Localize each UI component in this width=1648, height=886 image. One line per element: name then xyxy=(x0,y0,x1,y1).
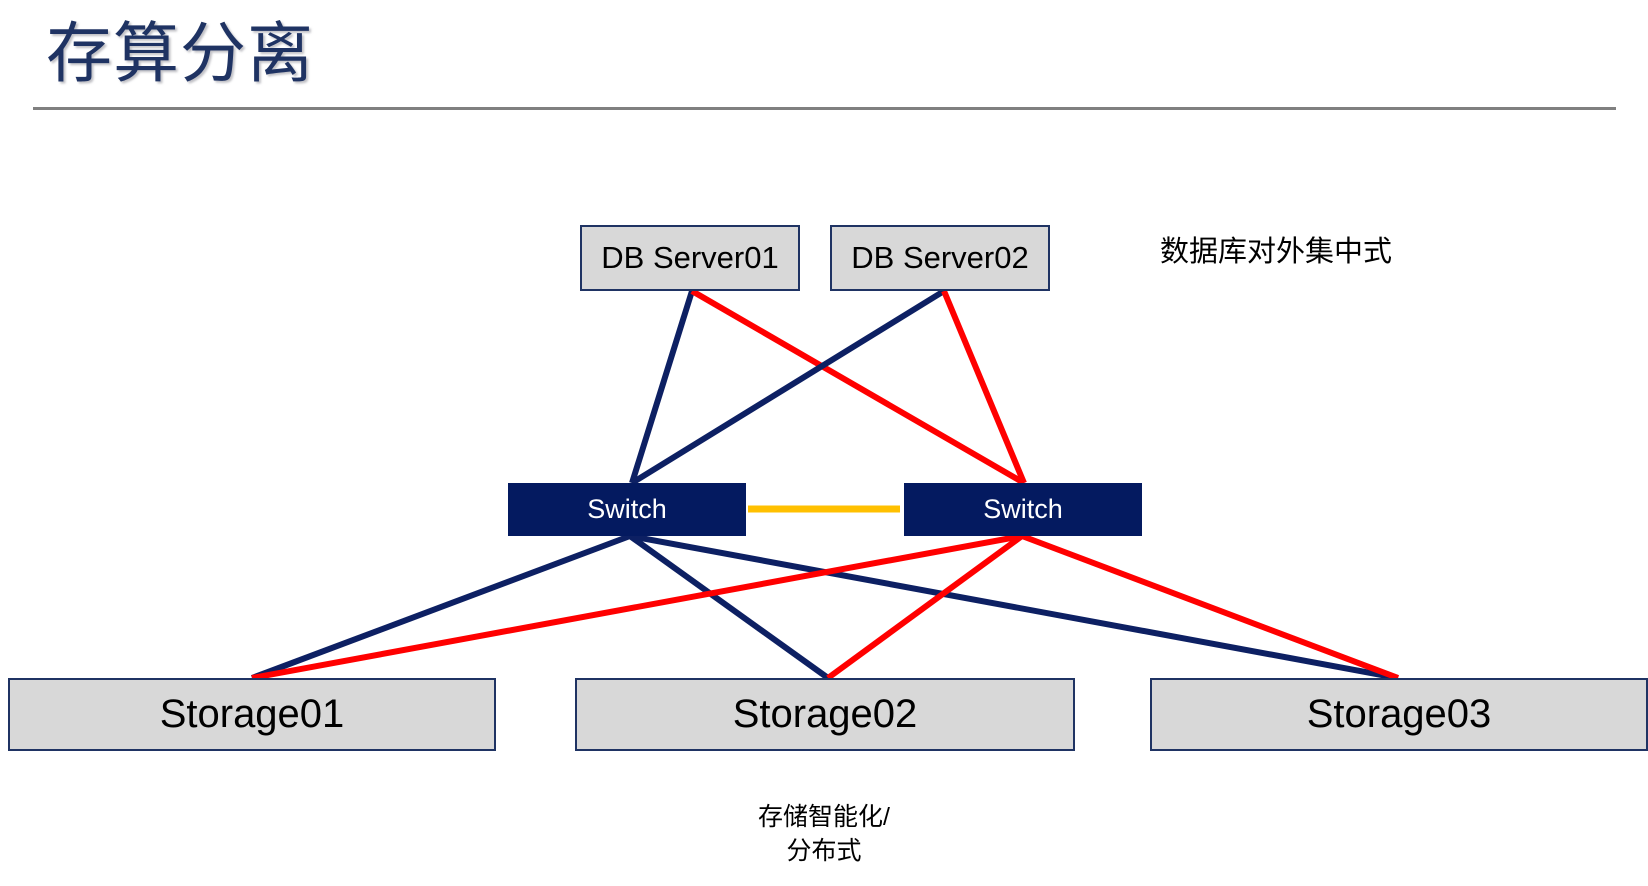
db-tier-annotation: 数据库对外集中式 xyxy=(1160,230,1392,274)
link-switch02-storage02 xyxy=(828,536,1022,678)
link-db02-switch01 xyxy=(632,291,944,483)
storage-02-node[interactable]: Storage02 xyxy=(575,678,1075,751)
switch-01-node[interactable]: Switch xyxy=(508,483,746,536)
storage-tier-annotation-line-2: 分布式 xyxy=(0,834,1648,868)
storage-tier-annotation-line-1: 存储智能化/ xyxy=(0,800,1648,834)
storage-tier-annotation: 存储智能化/ 分布式 xyxy=(0,800,1648,868)
db-server-01-label: DB Server01 xyxy=(601,240,778,276)
link-switch01-storage02 xyxy=(630,536,828,678)
link-switch02-storage03 xyxy=(1022,536,1398,678)
link-db02-switch02 xyxy=(944,291,1024,483)
link-db01-switch01 xyxy=(632,291,692,483)
link-db01-switch02 xyxy=(692,291,1024,483)
db-server-02-label: DB Server02 xyxy=(851,240,1028,276)
switch-02-node[interactable]: Switch xyxy=(904,483,1142,536)
storage-03-label: Storage03 xyxy=(1307,692,1492,737)
link-switch01-storage03 xyxy=(630,536,1398,678)
storage-02-label: Storage02 xyxy=(733,692,918,737)
link-switch02-storage01 xyxy=(252,536,1022,678)
connection-layer xyxy=(0,0,1648,886)
storage-03-node[interactable]: Storage03 xyxy=(1150,678,1648,751)
link-switch01-storage01 xyxy=(252,536,630,678)
switch-01-label: Switch xyxy=(587,494,667,525)
architecture-diagram: DB Server01 DB Server02 Switch Switch St… xyxy=(0,0,1648,886)
storage-01-label: Storage01 xyxy=(160,692,345,737)
db-server-01-node[interactable]: DB Server01 xyxy=(580,225,800,291)
db-server-02-node[interactable]: DB Server02 xyxy=(830,225,1050,291)
switch-02-label: Switch xyxy=(983,494,1063,525)
storage-01-node[interactable]: Storage01 xyxy=(8,678,496,751)
